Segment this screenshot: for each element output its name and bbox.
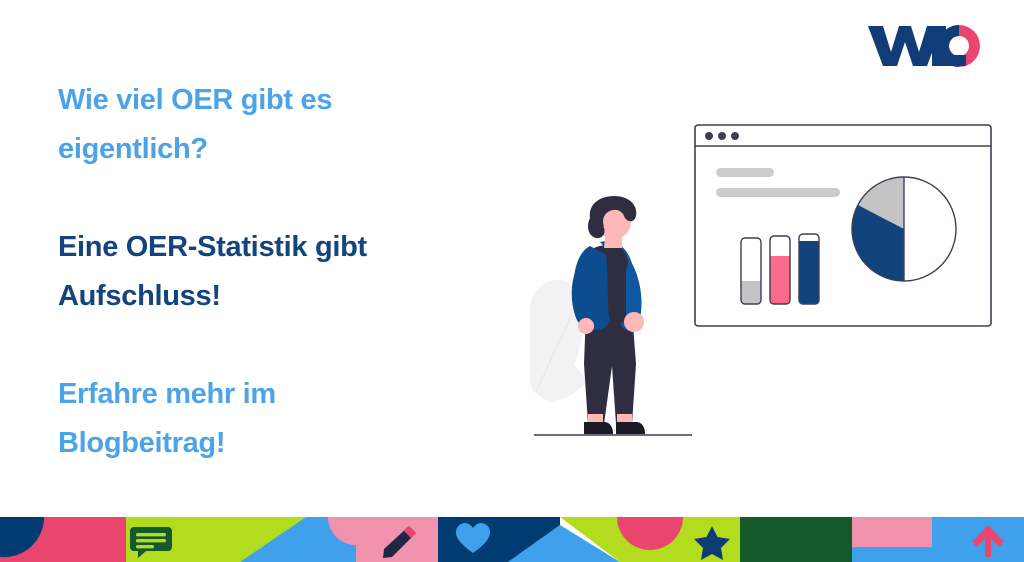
logo-letter-w — [868, 26, 942, 66]
strip-seg-green-2 — [740, 517, 852, 549]
slide-canvas: Wie viel OER gibt es eigentlich? Eine OE… — [0, 0, 1024, 562]
headline-question: Wie viel OER gibt es eigentlich? — [58, 76, 498, 174]
headline-text-block: Wie viel OER gibt es eigentlich? Eine OE… — [58, 76, 498, 468]
bar-chart — [741, 234, 819, 304]
person-hand-front — [624, 312, 644, 332]
headline-spacer-2 — [58, 321, 498, 370]
headline-spacer-1 — [58, 174, 498, 223]
person-svg — [528, 196, 698, 441]
placeholder-bar-2 — [716, 188, 840, 197]
strip-shape-rose-rect — [852, 517, 932, 547]
decorative-strip-svg — [0, 517, 1024, 562]
browser-dot-1[interactable] — [705, 132, 713, 140]
bar-chart-bar-3 — [799, 234, 819, 304]
headline-answer: Eine OER-Statistik gibt Aufschluss! — [58, 223, 498, 321]
headline-cta: Erfahre mehr im Blogbeitrag! — [58, 370, 498, 468]
strip-seg-pink-1 — [105, 517, 126, 562]
person-shoe-right — [616, 422, 645, 434]
wlo-logo — [866, 22, 984, 70]
person-shoe-left — [584, 422, 613, 434]
browser-svg — [694, 124, 992, 327]
browser-dot-3[interactable] — [731, 132, 739, 140]
strip-seg-green-3 — [740, 547, 852, 562]
browser-window-mockup — [694, 124, 992, 327]
person-hand-back — [578, 318, 594, 334]
placeholder-bar-1 — [716, 168, 774, 177]
decorative-color-strip — [0, 517, 1024, 562]
person-illustration — [528, 196, 698, 441]
logo-o-hole — [949, 36, 969, 56]
bar-chart-bar-2 — [770, 236, 790, 304]
browser-dot-2[interactable] — [718, 132, 726, 140]
pie-chart — [852, 177, 956, 281]
bar-chart-bar-1 — [741, 238, 761, 304]
person-jacket-shade — [606, 244, 628, 325]
wlo-logo-svg — [866, 22, 984, 70]
